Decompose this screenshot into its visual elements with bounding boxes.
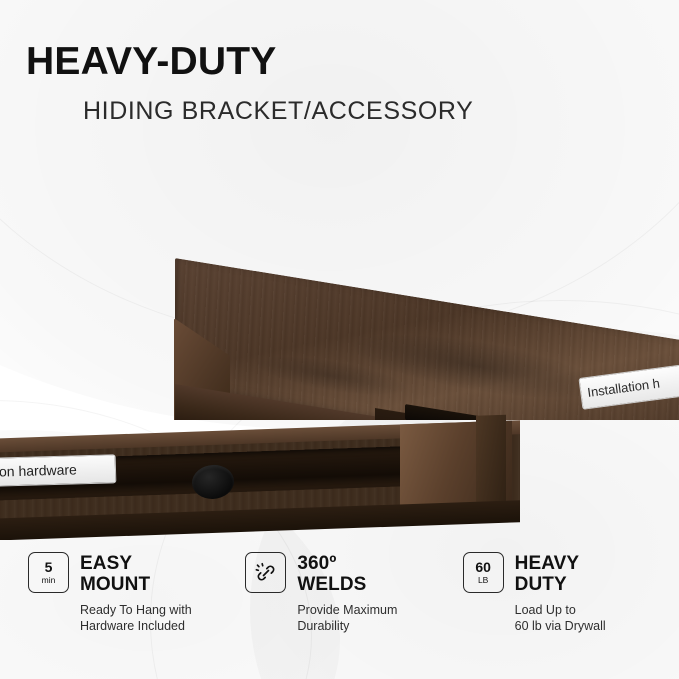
feature-easy-mount: 5 min EASY MOUNT Ready To Hang with Hard… [28,552,223,634]
feature-title-line1: HEAVY [515,553,606,574]
feature-text: 360º WELDS Provide Maximum Durability [297,552,397,634]
badge-unit: min [42,575,56,585]
feature-title-line1: EASY [80,553,192,574]
clock-badge-icon: 5 min [28,552,69,593]
feature-heavy-duty: 60 LB HEAVY DUTY Load Up to 60 lb via Dr… [463,552,658,634]
feature-desc-line1: Load Up to [515,603,576,617]
product-photo-top: Installation h [0,130,679,420]
feature-desc-line2: Hardware Included [80,619,185,633]
feature-title-line2: WELDS [297,574,397,595]
feature-text: EASY MOUNT Ready To Hang with Hardware I… [80,552,192,634]
product-infographic: HEAVY-DUTY HIDING BRACKET/ACCESSORY Inst… [0,0,679,679]
installation-hardware-sticker-bottom: on hardware [0,454,116,486]
badge-value: 5 [45,560,53,574]
badge-unit: LB [478,575,488,585]
feature-text: HEAVY DUTY Load Up to 60 lb via Drywall [515,552,606,634]
feature-desc-line2: Durability [297,619,349,633]
feature-desc-line1: Provide Maximum [297,603,397,617]
badge-value: 60 [475,560,491,574]
feature-title-line1: 360º [297,553,397,574]
weight-badge-icon: 60 LB [463,552,504,593]
headline-sub: HIDING BRACKET/ACCESSORY [83,96,646,126]
feature-strip: 5 min EASY MOUNT Ready To Hang with Hard… [28,552,658,634]
feature-title-line2: MOUNT [80,574,192,595]
weld-link-icon [245,552,286,593]
feature-desc-line1: Ready To Hang with [80,603,192,617]
headline-block: HEAVY-DUTY HIDING BRACKET/ACCESSORY [26,40,646,126]
feature-360-welds: 360º WELDS Provide Maximum Durability [245,552,440,634]
headline-main: HEAVY-DUTY [26,40,646,84]
sticker-text: on hardware [0,455,115,485]
feature-desc-line2: 60 lb via Drywall [515,619,606,633]
feature-title-line2: DUTY [515,574,606,595]
